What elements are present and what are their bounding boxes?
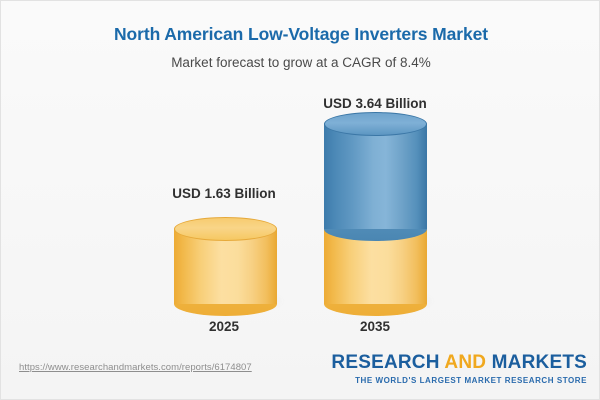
logo-tagline: THE WORLD'S LARGEST MARKET RESEARCH STOR… — [331, 375, 587, 387]
bar-segment-gold-2025 — [174, 229, 277, 304]
bar-value-label-2025: USD 1.63 Billion — [114, 186, 334, 201]
infographic-chart: North American Low-Voltage Inverters Mar… — [0, 0, 600, 400]
chart-footer: https://www.researchandmarkets.com/repor… — [1, 344, 600, 399]
segment-body — [324, 124, 427, 229]
report-url-link[interactable]: https://www.researchandmarkets.com/repor… — [19, 362, 252, 373]
bar-value-label-2035: USD 3.64 Billion — [265, 96, 485, 111]
segment-top-cap — [174, 217, 277, 241]
bar-cylinder-2025 — [174, 229, 277, 304]
logo-text-and: AND — [444, 352, 486, 373]
bar-segment-blue-2035 — [324, 124, 427, 229]
segment-top-cap — [324, 112, 427, 136]
chart-plot-area: USD 1.63 Billion 2025 USD 3.64 Billion — [1, 1, 600, 346]
bar-category-label-2035: 2035 — [265, 319, 485, 334]
logo-text-research: RESEARCH — [331, 352, 444, 373]
logo-text-markets: MARKETS — [486, 352, 587, 373]
research-and-markets-logo[interactable]: RESEARCH AND MARKETS THE WORLD'S LARGEST… — [331, 352, 587, 387]
bar-cylinder-2035 — [324, 124, 427, 304]
logo-wordmark: RESEARCH AND MARKETS — [331, 352, 587, 374]
